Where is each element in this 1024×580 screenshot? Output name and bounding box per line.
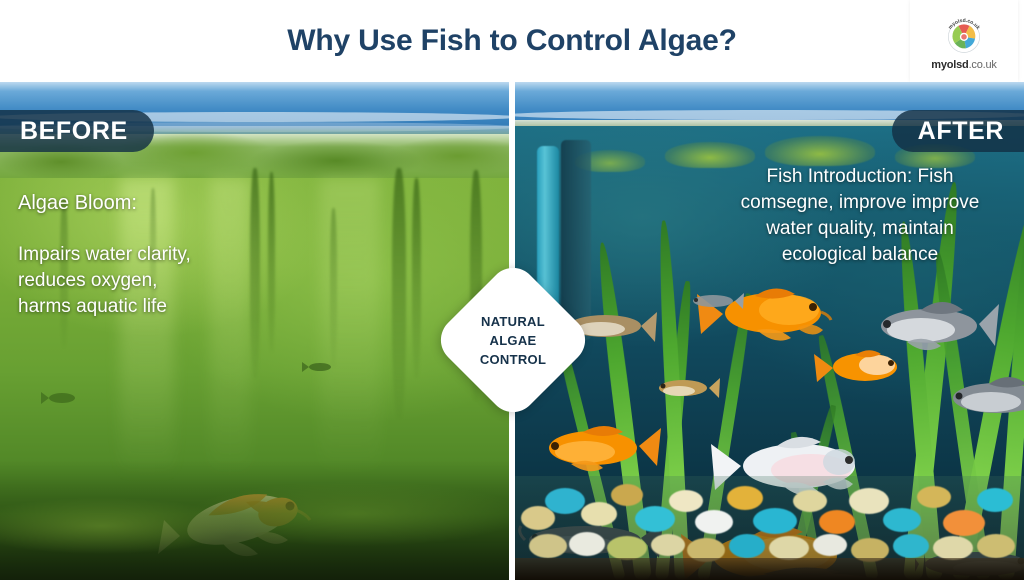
after-gravel-bed	[515, 476, 1024, 580]
center-diamond-text: NATURAL ALGAE CONTROL	[455, 282, 571, 398]
logo-brand: myolsd	[931, 59, 968, 71]
after-substrate	[515, 558, 1024, 580]
before-small-fish	[40, 388, 80, 408]
after-grey-fish-upper	[861, 288, 1001, 362]
after-badge: AFTER	[892, 110, 1024, 152]
before-panel: BEFORE Algae Bloom: Impairs water clarit…	[0, 82, 509, 580]
after-barb-fish-middle	[651, 372, 721, 404]
before-substrate	[0, 460, 509, 580]
center-badge-line1: NATURAL	[481, 312, 545, 331]
before-small-fish-2	[300, 358, 334, 376]
after-panel: AFTER Fish Introduction: Fish comsegne, …	[515, 82, 1024, 580]
after-tiny-fish-top	[687, 288, 745, 314]
before-caption: Algae Bloom: Impairs water clarity, redu…	[18, 164, 288, 346]
before-caption-body: Impairs water clarity, reduces oxygen, h…	[18, 242, 288, 320]
site-logo[interactable]: myolsd.co.uk myolsd.co.uk	[910, 0, 1018, 82]
before-caption-heading: Algae Bloom:	[18, 190, 288, 216]
after-orange-goldfish-lower	[535, 416, 665, 478]
center-badge-line2: ALGAE	[490, 331, 537, 350]
logo-tld: .co.uk	[969, 59, 997, 71]
myolsd-circle-logo-icon: myolsd.co.uk	[941, 12, 987, 58]
center-badge-line3: CONTROL	[480, 350, 546, 369]
logo-wordmark: myolsd.co.uk	[931, 59, 996, 71]
page-title: Why Use Fish to Control Algae?	[0, 22, 1024, 60]
after-caption: Fish Introduction: Fish comsegne, improv…	[710, 164, 1010, 268]
after-badge-label: AFTER	[918, 117, 1004, 146]
before-badge: BEFORE	[0, 110, 154, 152]
after-grey-fish-right	[935, 364, 1024, 430]
before-badge-label: BEFORE	[20, 117, 128, 146]
